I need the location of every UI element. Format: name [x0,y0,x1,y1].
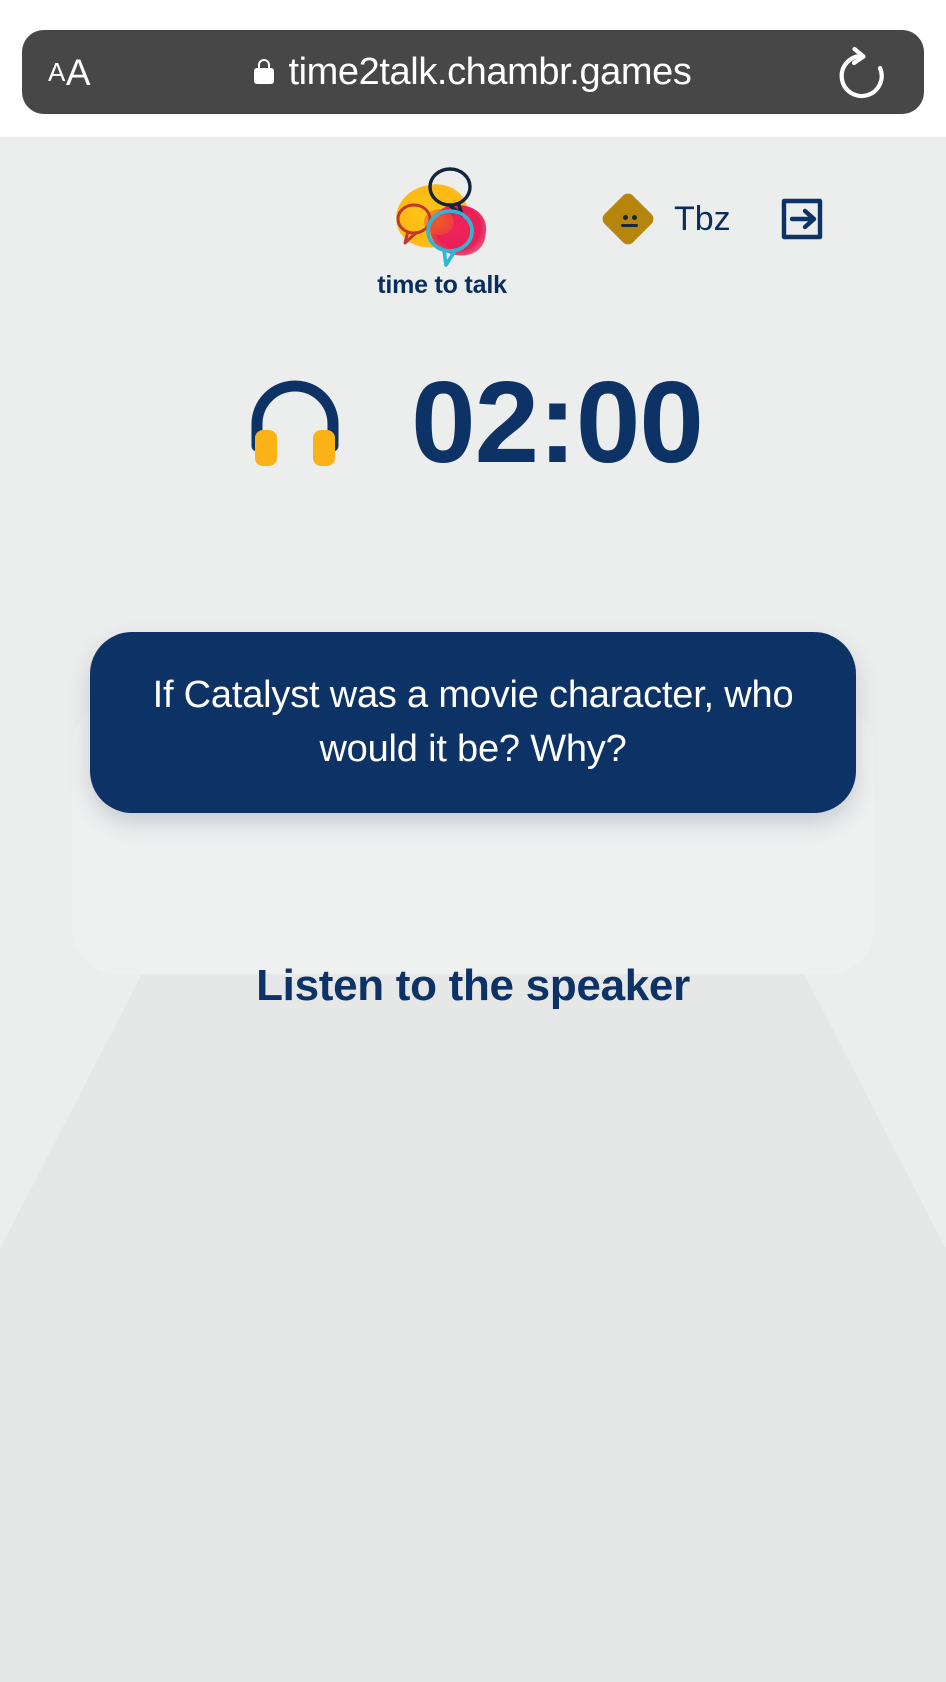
stage-floor [0,1247,946,1682]
headphones-glyph [243,374,347,470]
avatar-eye-right [632,215,637,220]
instruction-text: Listen to the speaker [0,957,946,1015]
timer-value: 02:00 [411,364,703,480]
reload-button[interactable] [836,30,888,114]
logo-speech-bubbles-icon [372,163,512,273]
browser-chrome: A A time2talk.chambr.games [0,0,946,137]
logo-mark-icon [372,163,512,273]
user-name-label: Tbz [674,200,731,239]
brand-logo: time to talk [372,163,512,308]
timer-row: 02:00 [0,357,946,487]
lock-body [254,68,274,84]
app-header: time to talk Tbz [0,163,946,308]
reload-icon [836,43,888,101]
headphones-icon [243,374,347,470]
avatar-eye-left [623,215,628,220]
url-bar[interactable]: A A time2talk.chambr.games [22,30,924,114]
question-card: If Catalyst was a movie character, who w… [90,632,856,813]
question-text: If Catalyst was a movie character, who w… [142,669,804,777]
avatar-mouth [621,224,638,227]
url-text: time2talk.chambr.games [288,51,691,94]
user-chip[interactable]: Tbz [600,191,731,247]
logo-wordmark: time to talk [360,271,524,300]
lock-icon [254,59,274,85]
app-page: time to talk Tbz [0,137,946,1682]
avatar [600,191,656,247]
avatar-face-icon [600,191,656,247]
logout-button[interactable] [778,195,826,243]
logout-icon [778,195,826,243]
url-display[interactable]: time2talk.chambr.games [22,30,924,114]
